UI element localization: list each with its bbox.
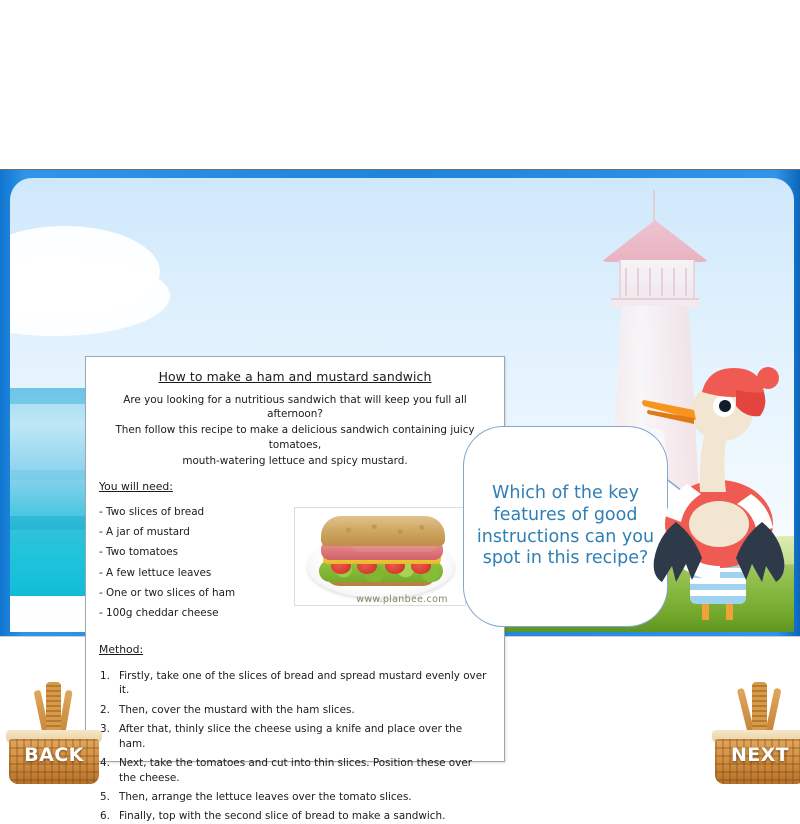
- recipe-title: How to make a ham and mustard sandwich: [99, 368, 491, 386]
- list-item: Then, arrange the lettuce leaves over th…: [99, 790, 491, 805]
- list-item: - Two tomatoes: [99, 545, 284, 560]
- back-button-label: BACK: [6, 744, 102, 766]
- speech-bubble-text: Which of the key features of good instru…: [474, 483, 657, 569]
- speech-bubble: Which of the key features of good instru…: [463, 426, 668, 627]
- recipe-panel: How to make a ham and mustard sandwich A…: [85, 356, 505, 762]
- ingredients-heading: You will need:: [99, 479, 491, 494]
- list-item: Then, cover the mustard with the ham sli…: [99, 703, 491, 718]
- back-button[interactable]: BACK: [6, 708, 102, 786]
- method-list: Firstly, take one of the slices of bread…: [99, 669, 491, 824]
- slide-screenshot: www.planbee.com How to make a ham and mu…: [0, 0, 800, 800]
- list-item: Next, take the tomatoes and cut into thi…: [99, 756, 491, 786]
- list-item: - A few lettuce leaves: [99, 566, 284, 581]
- footer-url: www.planbee.com: [356, 594, 448, 605]
- next-button[interactable]: NEXT: [712, 708, 800, 786]
- list-item: - A jar of mustard: [99, 525, 284, 540]
- list-item: After that, thinly slice the cheese usin…: [99, 722, 491, 752]
- intro-line-3: mouth-watering lettuce and spicy mustard…: [99, 454, 491, 469]
- recipe-intro: Are you looking for a nutritious sandwic…: [99, 393, 491, 469]
- intro-line-2: Then follow this recipe to make a delici…: [99, 423, 491, 453]
- list-item: Firstly, take one of the slices of bread…: [99, 669, 491, 699]
- seagull-character-icon: [640, 366, 792, 624]
- list-item: Finally, top with the second slice of br…: [99, 809, 491, 824]
- presentation-slide: www.planbee.com How to make a ham and mu…: [0, 170, 800, 636]
- list-item: - Two slices of bread: [99, 505, 284, 520]
- method-heading: Method:: [99, 642, 491, 657]
- intro-line-1: Are you looking for a nutritious sandwic…: [99, 393, 491, 423]
- next-button-label: NEXT: [712, 744, 800, 766]
